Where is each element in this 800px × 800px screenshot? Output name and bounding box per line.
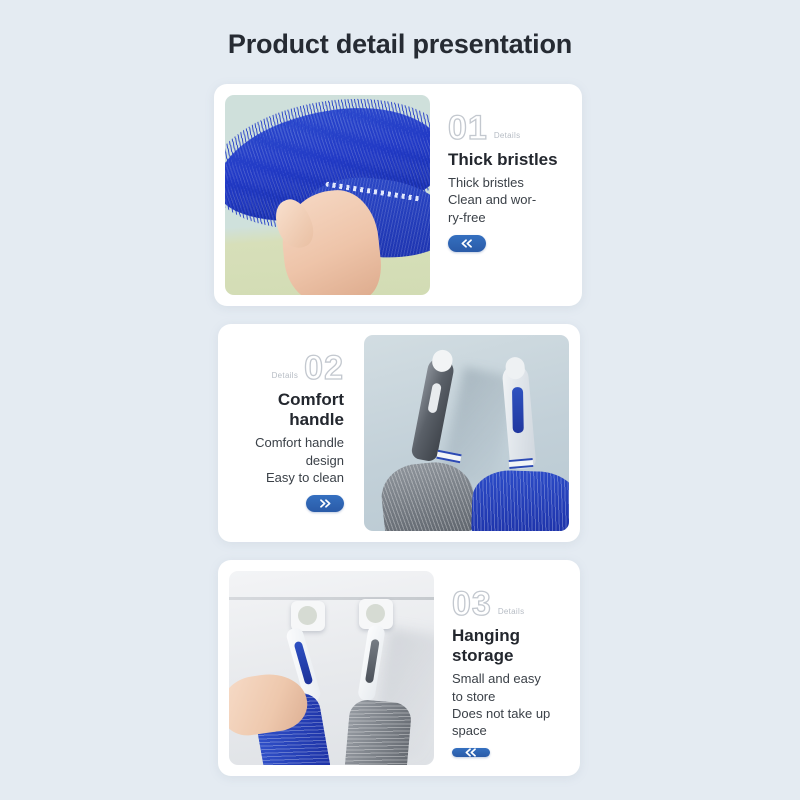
detail-card-02[interactable]: 02 Details Comfort handle Comfort handle…: [218, 324, 580, 542]
card-body-line: Comfort handle: [255, 434, 344, 451]
detail-card-01[interactable]: 01 Details Thick bristles Thick bristles…: [214, 84, 582, 306]
prev-chevron-badge-01[interactable]: [448, 235, 486, 252]
prev-chevron-badge-03[interactable]: [452, 748, 490, 757]
card-body-line: design: [255, 452, 344, 469]
detail-card-03[interactable]: 03 Details Hanging storage Small and eas…: [218, 560, 580, 776]
step-number-row-03: 03 Details: [452, 589, 524, 620]
step-number-row-01: 01 Details: [448, 113, 520, 144]
step-number-01: 01: [448, 113, 488, 144]
card-headline-02: Comfort handle: [235, 390, 344, 430]
card-body-01: Thick bristles Clean and wor- ry-free: [448, 174, 536, 225]
wall-hook-left: [291, 601, 325, 631]
card-body-line: Does not take up: [452, 705, 550, 722]
product-detail-page: Product detail presentation 01 Details T…: [0, 0, 800, 800]
detail-text-panel-03: 03 Details Hanging storage Small and eas…: [446, 571, 569, 765]
card-body-line: Small and easy: [452, 670, 550, 687]
wall-rail-shape: [229, 597, 434, 600]
blue-bristles-shape: [471, 469, 569, 531]
card-body-line: to store: [452, 688, 550, 705]
double-chevron-right-icon: [317, 499, 333, 508]
card-body-03: Small and easy to store Does not take up…: [452, 670, 550, 739]
details-tag-01: Details: [494, 131, 521, 144]
grey-brush-head-shape: [344, 698, 413, 765]
card-body-line: ry-free: [448, 209, 536, 226]
detail-text-panel-02: 02 Details Comfort handle Comfort handle…: [229, 335, 352, 531]
card-body-line: Easy to clean: [255, 469, 344, 486]
details-tag-02: Details: [272, 371, 299, 384]
double-chevron-left-icon: [459, 239, 475, 248]
details-tag-03: Details: [498, 607, 525, 620]
page-title: Product detail presentation: [0, 0, 800, 60]
step-number-row-02: 02 Details: [272, 353, 344, 384]
product-photo-hanging-storage: [229, 571, 434, 765]
card-body-line: Clean and wor-: [448, 191, 536, 208]
double-chevron-left-icon: [463, 748, 479, 757]
detail-text-panel-01: 01 Details Thick bristles Thick bristles…: [442, 95, 571, 295]
next-chevron-badge-02[interactable]: [306, 495, 344, 512]
card-body-02: Comfort handle design Easy to clean: [255, 434, 344, 485]
card-body-line: Thick bristles: [448, 174, 536, 191]
product-photo-thick-bristles: [225, 95, 430, 295]
blue-handle-shape: [502, 364, 537, 470]
step-number-02: 02: [304, 353, 344, 384]
card-body-line: space: [452, 722, 550, 739]
card-headline-01: Thick bristles: [448, 150, 558, 170]
step-number-03: 03: [452, 589, 492, 620]
card-headline-03: Hanging storage: [452, 626, 561, 666]
product-photo-comfort-handle: [364, 335, 569, 531]
